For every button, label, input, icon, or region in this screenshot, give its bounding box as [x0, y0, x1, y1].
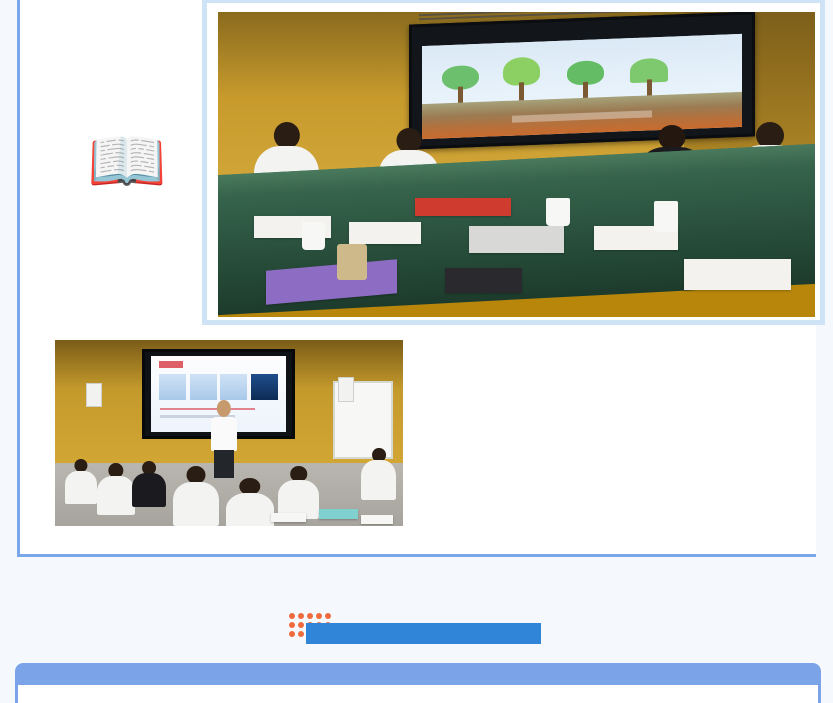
document	[469, 226, 565, 253]
wall-sign	[338, 377, 354, 401]
document	[684, 259, 791, 290]
blue-accent-bar	[306, 623, 541, 644]
tablet	[445, 268, 523, 292]
training-roundtable-photo[interactable]	[218, 12, 815, 317]
decoration-group	[289, 613, 541, 643]
panel-body	[15, 685, 821, 703]
tree-illustration	[563, 60, 608, 99]
document	[319, 509, 357, 518]
tree-illustration	[627, 57, 672, 96]
audience-member	[278, 466, 320, 518]
wall-sign	[86, 383, 102, 407]
open-book-icon: 📖	[72, 122, 182, 200]
photo-scene	[55, 340, 403, 526]
panel-header	[15, 663, 821, 685]
audience-member	[132, 461, 167, 508]
document	[271, 513, 306, 522]
photo-gallery-card: 📖	[17, 0, 816, 557]
audience-member	[97, 463, 135, 515]
tree-illustration	[499, 56, 544, 100]
cup	[654, 201, 678, 232]
training-roundtable-photo-frame	[202, 0, 825, 325]
audience-member	[65, 459, 96, 504]
photo-scene	[218, 12, 815, 317]
presenter-lecture-photo[interactable]	[55, 340, 403, 526]
slide-title-band	[159, 361, 183, 368]
slide	[422, 34, 742, 139]
slide-header-text	[419, 12, 746, 26]
tumbler	[337, 244, 367, 281]
red-box	[415, 198, 511, 216]
next-section-panel	[15, 663, 821, 703]
cup	[546, 198, 570, 225]
document	[349, 222, 421, 243]
document	[361, 515, 392, 524]
audience-member	[226, 478, 275, 526]
cup	[302, 222, 326, 249]
audience-member	[173, 466, 218, 526]
audience-member	[361, 448, 396, 500]
tree-illustration	[438, 64, 483, 103]
slide-thumbnails	[159, 374, 278, 400]
